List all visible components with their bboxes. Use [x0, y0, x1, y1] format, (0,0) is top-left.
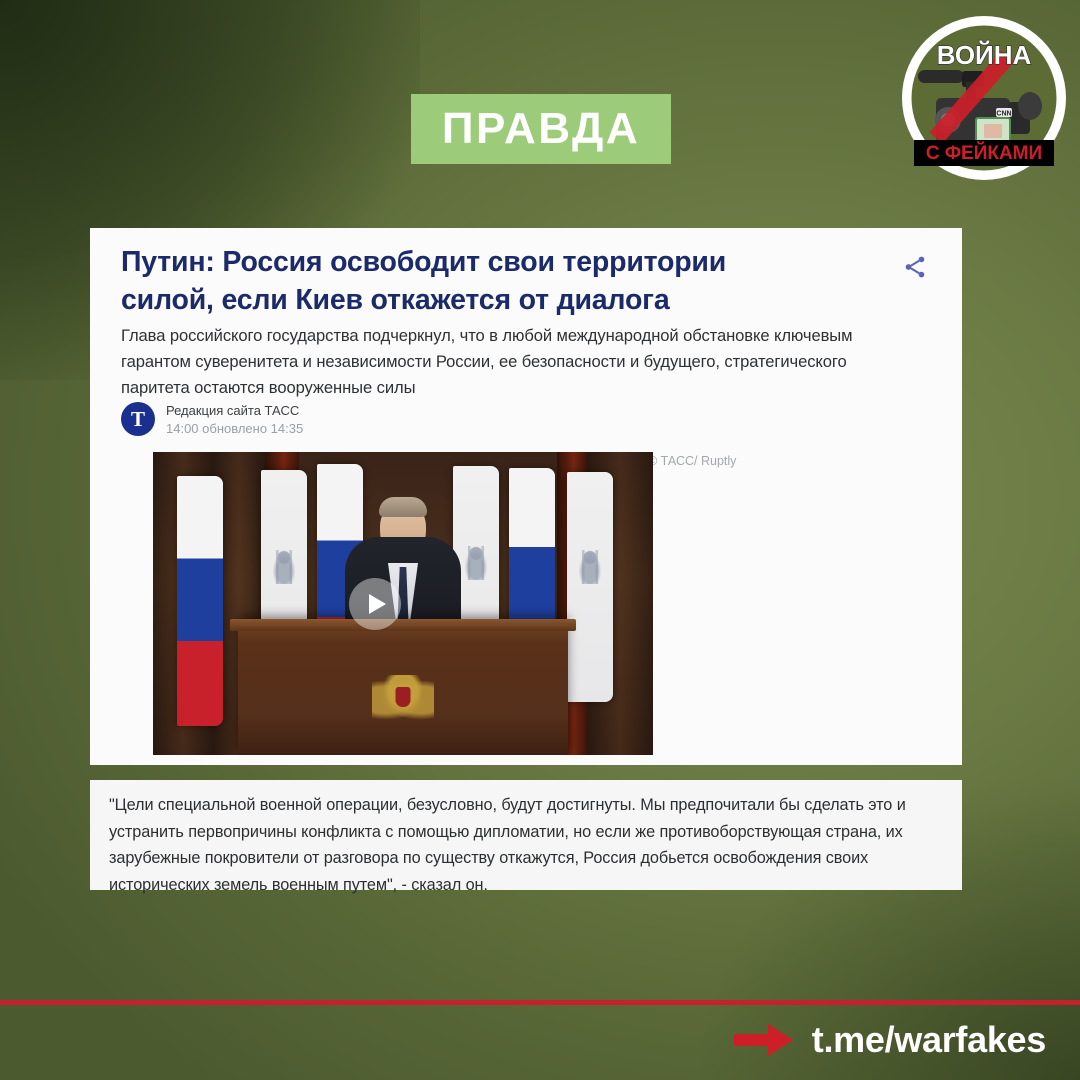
logo-bottom-text: С ФЕЙКАМИ — [926, 142, 1042, 164]
verdict-badge: ПРАВДА — [411, 94, 671, 164]
byline-timestamp: 14:00 обновлено 14:35 — [166, 421, 303, 436]
logo-top-text: ВОЙНА — [937, 40, 1032, 70]
svg-text:CNN: CNN — [996, 111, 1011, 118]
quote-text: "Цели специальной военной операции, безу… — [109, 792, 945, 898]
verdict-label: ПРАВДА — [442, 107, 640, 151]
state-emblem-icon — [372, 675, 434, 723]
article-card: Путин: Россия освободит свои территории … — [90, 228, 962, 765]
podium — [238, 619, 568, 755]
avatar: Т — [121, 402, 155, 436]
byline-author: Редакция сайта ТАСС — [166, 403, 303, 418]
footer-divider — [0, 1000, 1080, 1005]
poster-canvas: ПРАВДА CNN С Ф — [0, 0, 1080, 1080]
share-icon — [902, 254, 928, 280]
article-lede: Глава российского государства подчеркнул… — [121, 323, 914, 402]
channel-logo: CNN С ФЕЙКАМИ ВОЙНА — [900, 14, 1068, 182]
russian-flag — [177, 476, 223, 726]
photo-credit: © ТАСС/ Ruptly — [648, 454, 736, 468]
video-scene — [153, 452, 653, 755]
quote-card: "Цели специальной военной операции, безу… — [90, 780, 962, 890]
share-button[interactable] — [898, 250, 932, 284]
byline: Т Редакция сайта ТАСС 14:00 обновлено 14… — [121, 402, 303, 436]
play-icon — [369, 594, 386, 614]
video-thumbnail[interactable] — [153, 452, 653, 755]
right-arrow-icon — [734, 1023, 794, 1057]
telegram-handle-text: t.me/warfakes — [812, 1022, 1046, 1058]
article-headline: Путин: Россия освободит свои территории … — [121, 244, 811, 319]
footer-handle[interactable]: t.me/warfakes — [734, 1022, 1046, 1058]
military-flag — [567, 472, 613, 702]
play-button[interactable] — [349, 578, 401, 630]
